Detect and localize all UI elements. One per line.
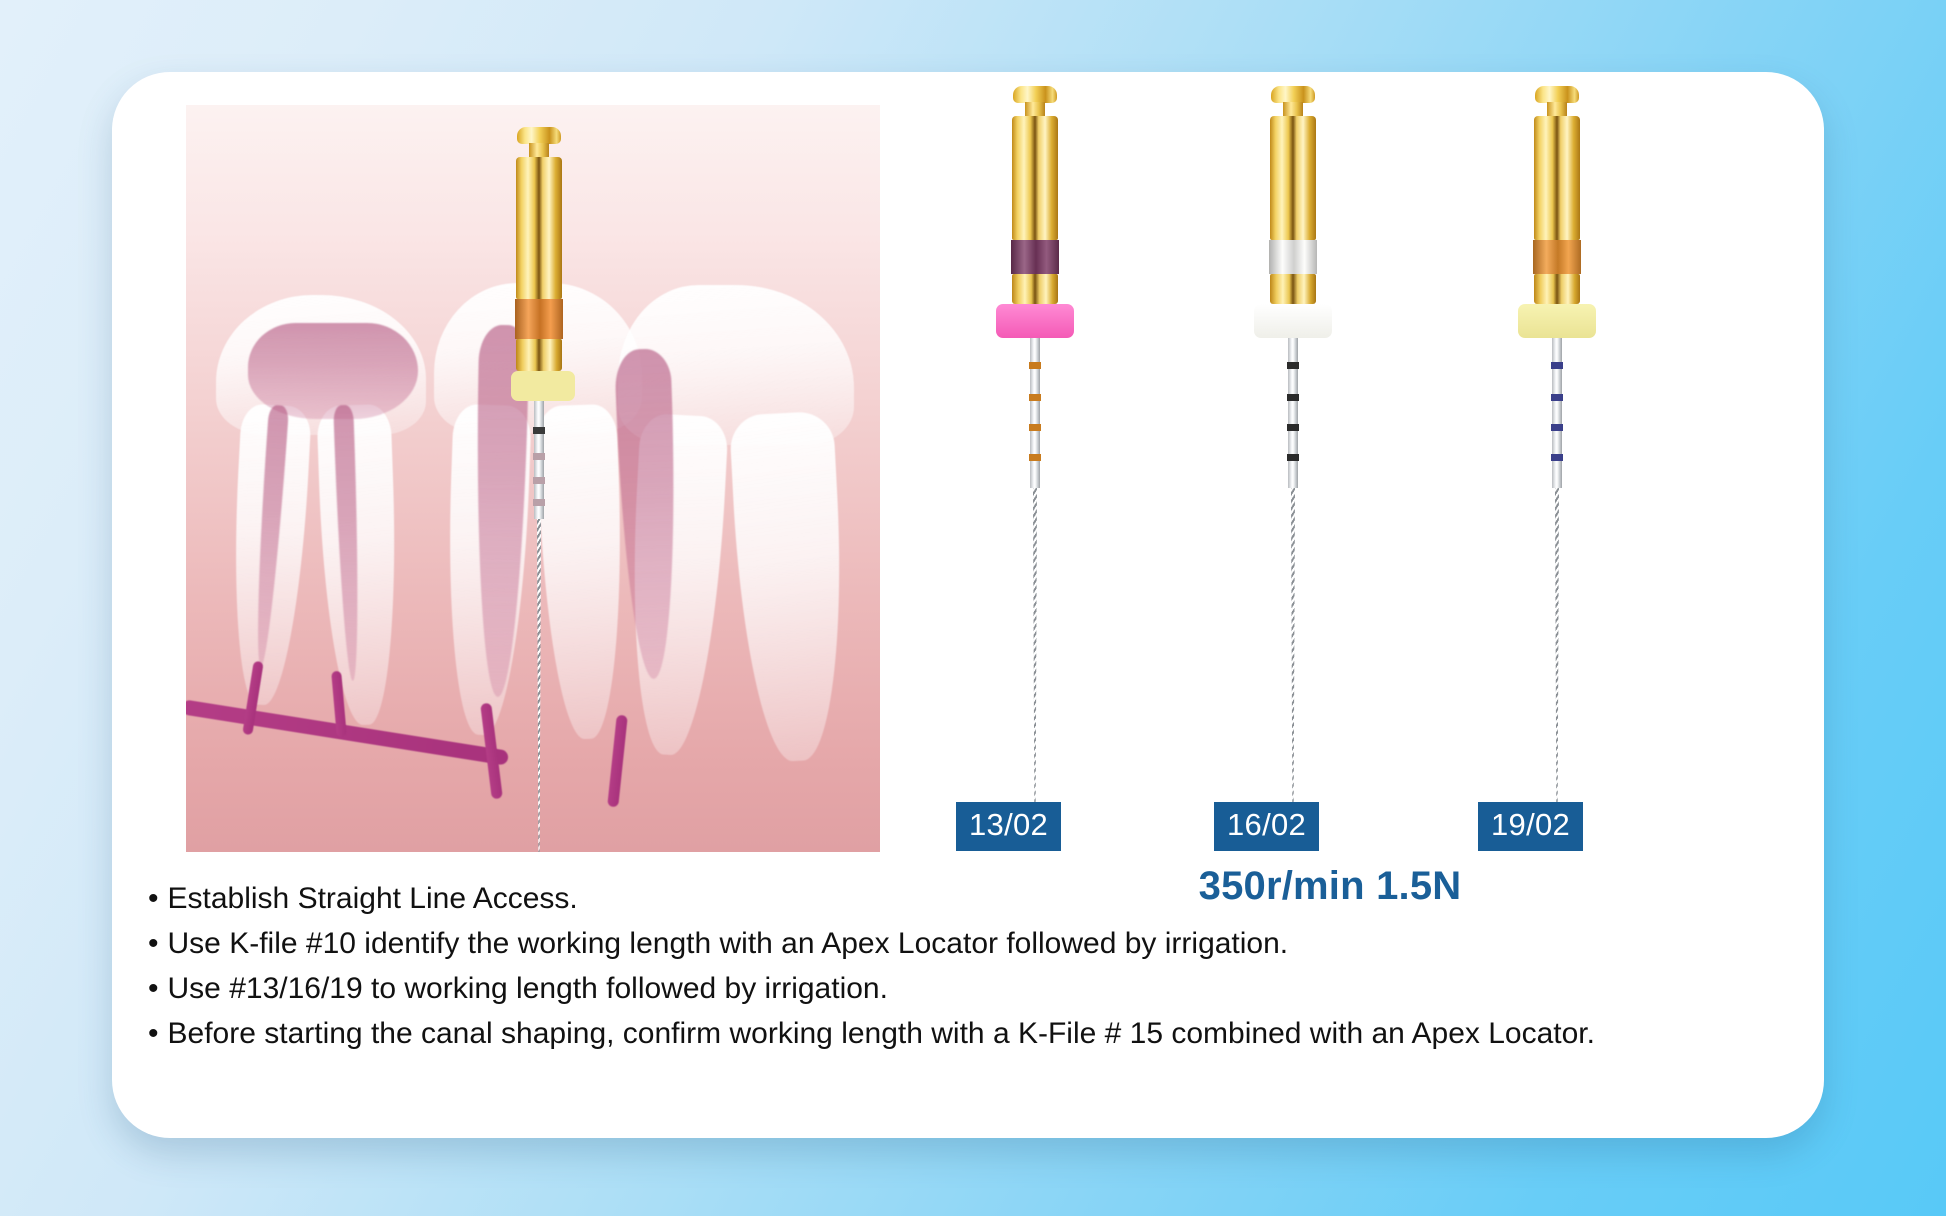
file-item-1[interactable] [960,86,1110,836]
apical-vessel-4 [607,715,628,808]
file-cutting-flutes [1289,488,1298,836]
file-shaft-marked [534,401,544,519]
list-item: •Use #13/16/19 to working length followe… [148,974,1788,1004]
molar-root-right-distal [729,411,851,764]
pulp-chamber-left [248,323,418,419]
bullet-dot-icon: • [148,1017,159,1050]
file-handle-neck [1283,102,1303,116]
file-cutting-flutes [535,519,544,852]
list-item: •Establish Straight Line Access. [148,884,1788,914]
file-handle-foot [1270,274,1316,304]
list-item-text: Use K-file #10 identify the working leng… [168,927,1289,960]
bullet-dot-icon: • [148,927,159,960]
file-handle-body [1534,116,1580,240]
file-handle-foot [1012,274,1058,304]
list-item: •Use K-file #10 identify the working len… [148,929,1788,959]
silicone-stop [511,371,575,401]
depth-marker [1029,362,1041,369]
nerve-vessel-bundle [186,699,509,765]
file-shaft [1550,338,1564,836]
clinical-photo [186,105,880,852]
silicone-stop [1518,304,1596,338]
depth-marker [1287,394,1299,401]
depth-marker [1551,362,1563,369]
file-item-3[interactable] [1482,86,1632,836]
file-handle-neck [1547,102,1567,116]
file-handle-body [1012,116,1058,240]
molar-root-left-distal [316,404,401,726]
file-sequence-panel: 13/02 16/02 19/02 [940,86,1720,876]
inserted-endodontic-file [511,127,567,852]
file-shaft [1286,338,1300,836]
file-shaft [532,401,546,852]
file-handle-neck [1025,102,1045,116]
depth-marker [1287,454,1299,461]
file-item-2[interactable] [1218,86,1368,836]
depth-marker [1551,394,1563,401]
file-handle-cap [1271,86,1315,103]
list-item-text: Before starting the canal shaping, confi… [168,1017,1595,1050]
file-shaft-marked [1288,338,1298,488]
depth-marker [1287,424,1299,431]
file-identification-band [1011,240,1059,274]
file-size-label-2: 16/02 [1214,802,1319,851]
depth-marker [533,477,545,484]
list-item-text: Establish Straight Line Access. [168,882,578,915]
file-shaft-marked [1552,338,1562,488]
depth-marker [1551,424,1563,431]
file-identification-band [515,299,563,339]
file-handle-neck [529,143,549,157]
silicone-stop [996,304,1074,338]
depth-marker [533,427,545,434]
file-cutting-flutes [1553,488,1562,836]
file-handle-body [1270,116,1316,240]
file-identification-band [1269,240,1317,274]
depth-marker [1029,454,1041,461]
file-size-label-3: 19/02 [1478,802,1583,851]
file-shaft-marked [1030,338,1040,488]
file-handle-cap [1535,86,1579,103]
file-cutting-flutes [1031,488,1040,836]
instruction-card: 13/02 16/02 19/02 350r/min 1.5N •Establi… [112,72,1824,1138]
file-handle-cap [1013,86,1057,103]
depth-marker [1029,394,1041,401]
bullet-dot-icon: • [148,882,159,915]
file-handle-body [516,157,562,299]
depth-marker [1029,424,1041,431]
depth-marker [533,499,545,506]
depth-marker [1287,362,1299,369]
depth-marker [533,453,545,460]
silicone-stop [1254,304,1332,338]
file-handle-cap [517,127,561,144]
list-item-text: Use #13/16/19 to working length followed… [168,972,888,1005]
list-item: •Before starting the canal shaping, conf… [148,1019,1788,1049]
depth-marker [1551,454,1563,461]
file-identification-band [1533,240,1581,274]
instruction-list: •Establish Straight Line Access. •Use K-… [148,884,1788,1064]
bullet-dot-icon: • [148,972,159,1005]
file-size-label-1: 13/02 [956,802,1061,851]
file-handle-foot [1534,274,1580,304]
file-handle-foot [516,339,562,371]
file-shaft [1028,338,1042,836]
